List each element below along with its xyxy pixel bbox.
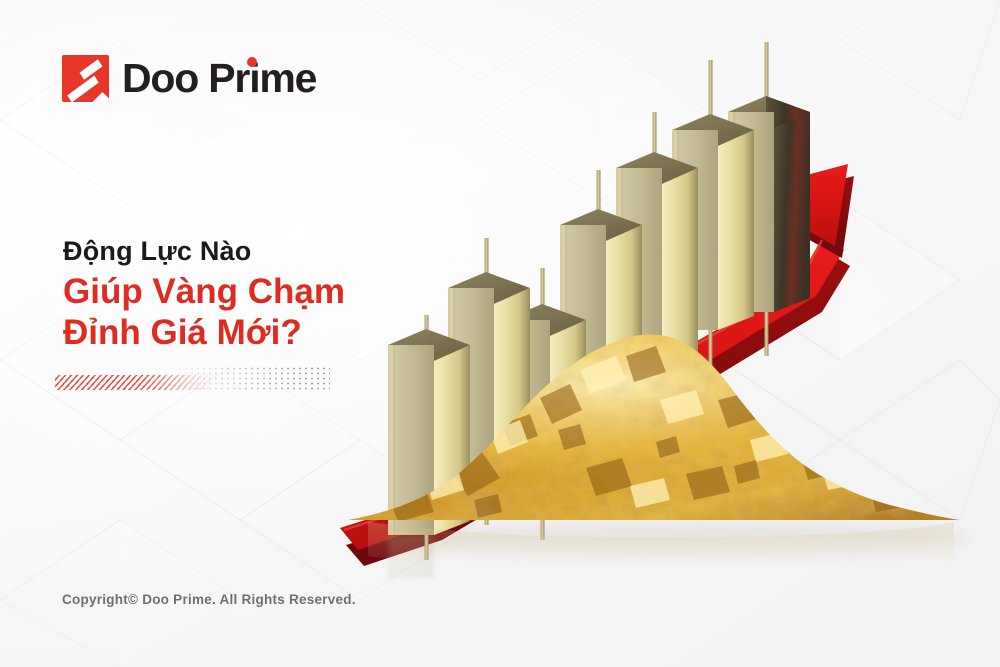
candle-1 (388, 315, 470, 560)
accent-dot-grid (177, 366, 330, 390)
copyright-text: Copyright© Doo Prime. All Rights Reserve… (62, 592, 356, 607)
logo-i-dot-icon (247, 57, 257, 67)
hero-illustration (330, 0, 1000, 667)
headline-line-2: Đỉnh Giá Mới? (63, 313, 345, 354)
headline-block: Động Lực Nào Giúp Vàng Chạm Đỉnh Giá Mới… (63, 236, 345, 353)
headline-line-1: Giúp Vàng Chạm (63, 272, 345, 313)
decorative-accent (55, 366, 330, 392)
brand-name: Doo Prime (122, 58, 316, 99)
headline-subline: Động Lực Nào (63, 236, 345, 268)
poster-canvas: Doo Prime Động Lực Nào Giúp Vàng Chạm Đỉ… (0, 0, 1000, 667)
brand-logo[interactable]: Doo Prime (62, 55, 316, 102)
doo-prime-logo-mark-icon (62, 55, 109, 102)
